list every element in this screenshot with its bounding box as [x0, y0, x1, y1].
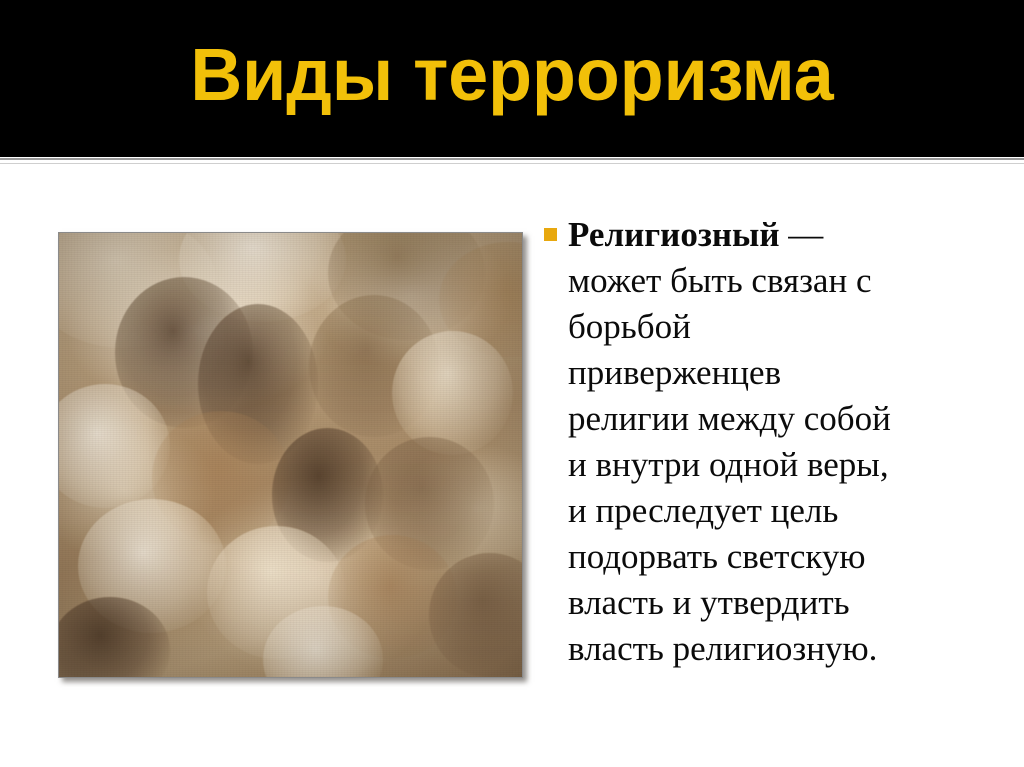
- presentation-slide: Виды терроризма: [0, 0, 1024, 767]
- title-banner: Виды терроризма: [0, 0, 1024, 157]
- bullet-line: борьбой: [568, 304, 990, 350]
- bullet-line: подорвать светскую: [568, 534, 990, 580]
- header-divider-secondary: [0, 163, 1024, 164]
- bullet-line: и преследует цель: [568, 488, 990, 534]
- bullet-list-item: Религиозный — может быть связан с борьбо…: [538, 212, 990, 672]
- slide-image-frame: [58, 232, 523, 678]
- header-divider-primary: [0, 158, 1024, 160]
- square-bullet-icon: [544, 228, 557, 241]
- bullet-dash: —: [780, 215, 833, 254]
- bullet-line: и внутри одной веры,: [568, 442, 990, 488]
- bullet-lead-term: Религиозный: [568, 215, 780, 254]
- bullet-line: власть и утвердить: [568, 580, 990, 626]
- bullet-line: может быть связан с: [568, 258, 990, 304]
- bullet-paragraph: Религиозный — может быть связан с борьбо…: [568, 212, 990, 672]
- bullet-line: приверженцев: [568, 350, 990, 396]
- content-text-block: Религиозный — может быть связан с борьбо…: [538, 212, 990, 672]
- bullet-line: власть религиозную.: [568, 626, 990, 672]
- photo-collage: [59, 233, 522, 677]
- bullet-line: религии между собой: [568, 396, 990, 442]
- slide-title: Виды терроризма: [15, 0, 1008, 157]
